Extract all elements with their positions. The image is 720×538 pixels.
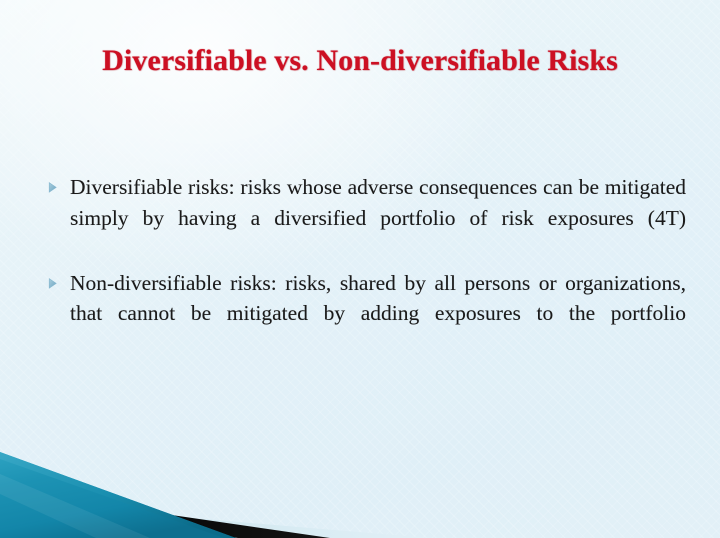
bullet-item: Diversifiable risks: risks whose adverse… bbox=[46, 172, 686, 264]
bottom-left-angled-wedges bbox=[0, 428, 720, 538]
bullet-text: Non-diversifiable risks: risks, shared b… bbox=[70, 268, 686, 360]
bullet-item: Non-diversifiable risks: risks, shared b… bbox=[46, 268, 686, 360]
bullet-text: Diversifiable risks: risks whose adverse… bbox=[70, 172, 686, 264]
triangle-right-bullet-icon bbox=[46, 268, 70, 290]
slide-body: Diversifiable risks: risks whose adverse… bbox=[46, 172, 686, 363]
slide-canvas: Diversifiable vs. Non-diversifiable Risk… bbox=[0, 0, 720, 538]
slide-title: Diversifiable vs. Non-diversifiable Risk… bbox=[0, 44, 720, 79]
triangle-right-bullet-icon bbox=[46, 172, 70, 194]
